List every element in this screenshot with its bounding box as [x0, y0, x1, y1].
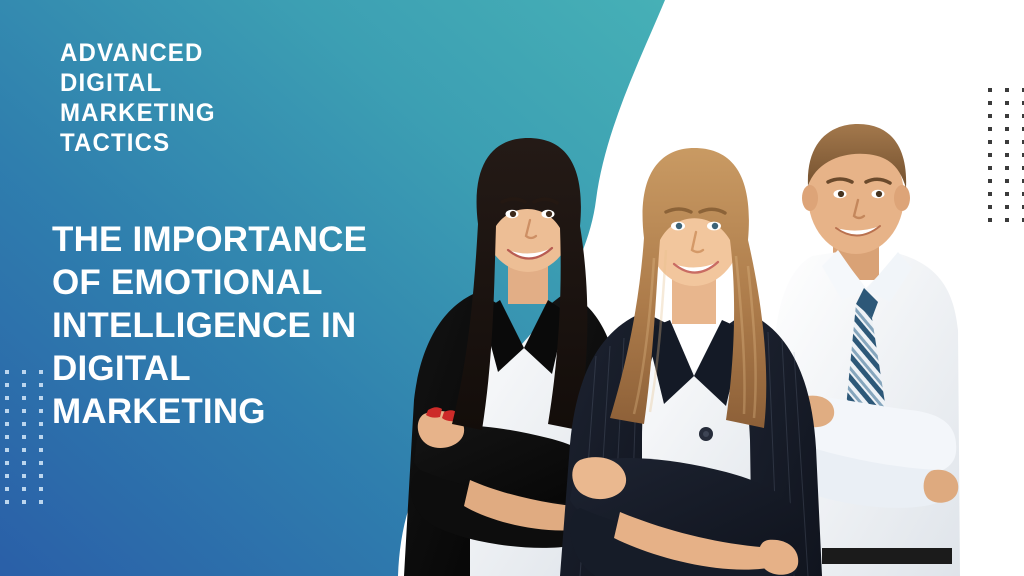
headline-text: THE IMPORTANCE OF EMOTIONAL INTELLIGENCE…	[52, 218, 482, 433]
person-woman-center	[560, 148, 822, 576]
eyebrow-text: ADVANCED DIGITAL MARKETING TACTICS	[60, 38, 463, 158]
marketing-banner: ADVANCED DIGITAL MARKETING TACTICS THE I…	[0, 0, 1024, 576]
text-layer: ADVANCED DIGITAL MARKETING TACTICS THE I…	[0, 0, 560, 576]
